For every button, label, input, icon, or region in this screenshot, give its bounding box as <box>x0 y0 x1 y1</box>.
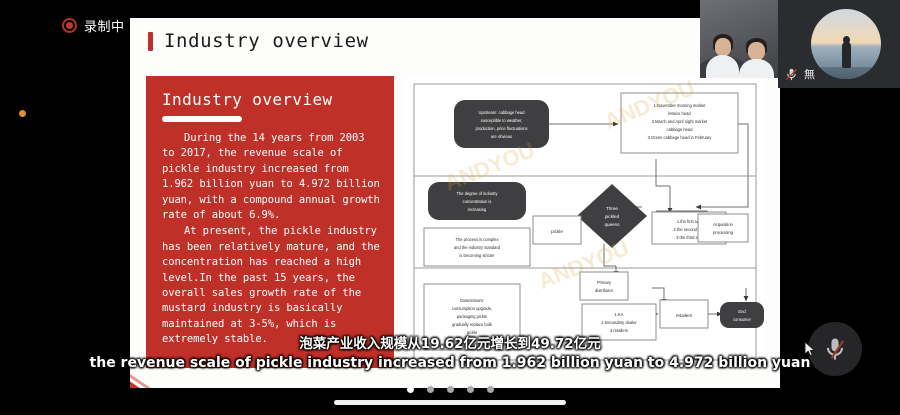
node-channels-line-1: 1.KA <box>615 312 624 317</box>
page-dot-1[interactable] <box>407 386 414 393</box>
avatar-person-silhouette <box>842 42 851 68</box>
slide-pagination[interactable] <box>0 386 900 393</box>
meeting-screen: 录制中 Industry overview Industry overview … <box>0 0 900 415</box>
node-queens-line-2: pickled <box>605 214 620 219</box>
node-queens-line-1: Three <box>606 206 618 211</box>
node-queens-line-3: queens <box>604 222 620 227</box>
slide-header: Industry overview <box>148 30 369 52</box>
mute-toggle-button[interactable] <box>808 322 862 376</box>
participant-figure-2 <box>738 36 776 78</box>
video-tile-participants[interactable] <box>700 0 778 78</box>
node-upstream-line-1: Upstream: cabbage head <box>479 110 526 115</box>
avatar-ground <box>811 67 881 79</box>
node-varieties-line-1: 1.November morning market <box>654 103 707 108</box>
panel-paragraph-2: At present, the pickle industry has been… <box>162 224 380 347</box>
node-process-line-3: is becoming stricter <box>459 253 495 258</box>
participant-name: 無 <box>804 66 815 82</box>
diagram-canvas: Upstream: cabbage head susceptible to we… <box>406 76 764 368</box>
node-downstream-line-4: gradually replace bulk <box>452 322 493 327</box>
tile-status-row: 無 <box>784 66 815 82</box>
node-primary-distributor-line-1: Primary <box>597 280 612 285</box>
panel-underline <box>162 116 242 122</box>
node-end-consumer-line-1: End <box>738 309 746 314</box>
node-upstream-line-4: are obvious <box>491 134 512 139</box>
node-process-line-1: The process is complex <box>455 237 498 242</box>
slide-title: Industry overview <box>164 30 369 52</box>
node-varieties-line-3: 2.March and April night market <box>652 119 708 124</box>
title-accent-bar-icon <box>148 32 153 51</box>
recording-indicator: 录制中 <box>62 16 125 35</box>
node-downstream-line-1: Downstream: <box>460 298 484 303</box>
video-tile-avatar[interactable]: 無 <box>778 0 900 88</box>
node-upstream-line-2: susceptible to weather, <box>481 118 523 123</box>
page-dot-5[interactable] <box>487 386 494 393</box>
node-end-consumer-line-2: consumer <box>733 317 752 322</box>
microphone-muted-icon <box>784 67 799 82</box>
status-dot-icon <box>19 110 26 117</box>
node-concentration-line-3: increasing <box>468 207 487 212</box>
page-dot-3[interactable] <box>447 386 454 393</box>
node-downstream-line-5: pickle <box>467 330 478 335</box>
recording-label: 录制中 <box>84 16 125 35</box>
node-pickle-label: pickle <box>551 229 563 234</box>
record-dot-icon <box>62 18 77 33</box>
page-dot-4[interactable] <box>467 386 474 393</box>
node-concentration-line-2: concentration is <box>463 199 492 204</box>
node-primary-distributor-line-2: distributor <box>595 288 614 293</box>
node-downstream-line-2: consumption upgrade, <box>452 306 493 311</box>
mouse-cursor <box>804 341 816 362</box>
overview-panel: Industry overview During the 14 years fr… <box>146 76 394 368</box>
node-varieties-line-2: lettuce head <box>668 111 691 116</box>
microphone-muted-icon <box>821 335 849 363</box>
panel-paragraph-1: During the 14 years from 2003 to 2017, t… <box>162 131 380 223</box>
industry-flow-diagram: ANDYOU ANDYOU ANDYOU <box>406 76 764 368</box>
video-tile-strip: 無 <box>700 0 900 88</box>
node-retailers-label: retailers <box>676 313 693 318</box>
node-varieties-line-4: cabbage head <box>667 127 694 132</box>
home-indicator[interactable] <box>334 400 566 405</box>
participant-figure-1 <box>704 34 740 78</box>
node-acquisition-line-1: Acquisition <box>713 222 734 227</box>
node-varieties-line-5: 3.Green cabbage head in February <box>648 135 713 140</box>
node-acquisition-line-2: processing <box>713 230 734 235</box>
avatar <box>811 9 881 79</box>
node-channels-line-2: 2.Secondary dealer <box>601 320 637 325</box>
node-downstream-line-3: packaging pickle <box>457 314 488 319</box>
node-concentration-line-1: The degree of industry <box>457 191 499 196</box>
page-dot-2[interactable] <box>427 386 434 393</box>
shared-slide[interactable]: Industry overview Industry overview Duri… <box>130 18 780 388</box>
node-channels-line-3: 3.retailers <box>610 328 628 333</box>
node-upstream-line-3: production, price fluctuations <box>475 126 527 131</box>
panel-title: Industry overview <box>162 90 380 109</box>
node-process-line-2: and the industry standard <box>454 245 501 250</box>
